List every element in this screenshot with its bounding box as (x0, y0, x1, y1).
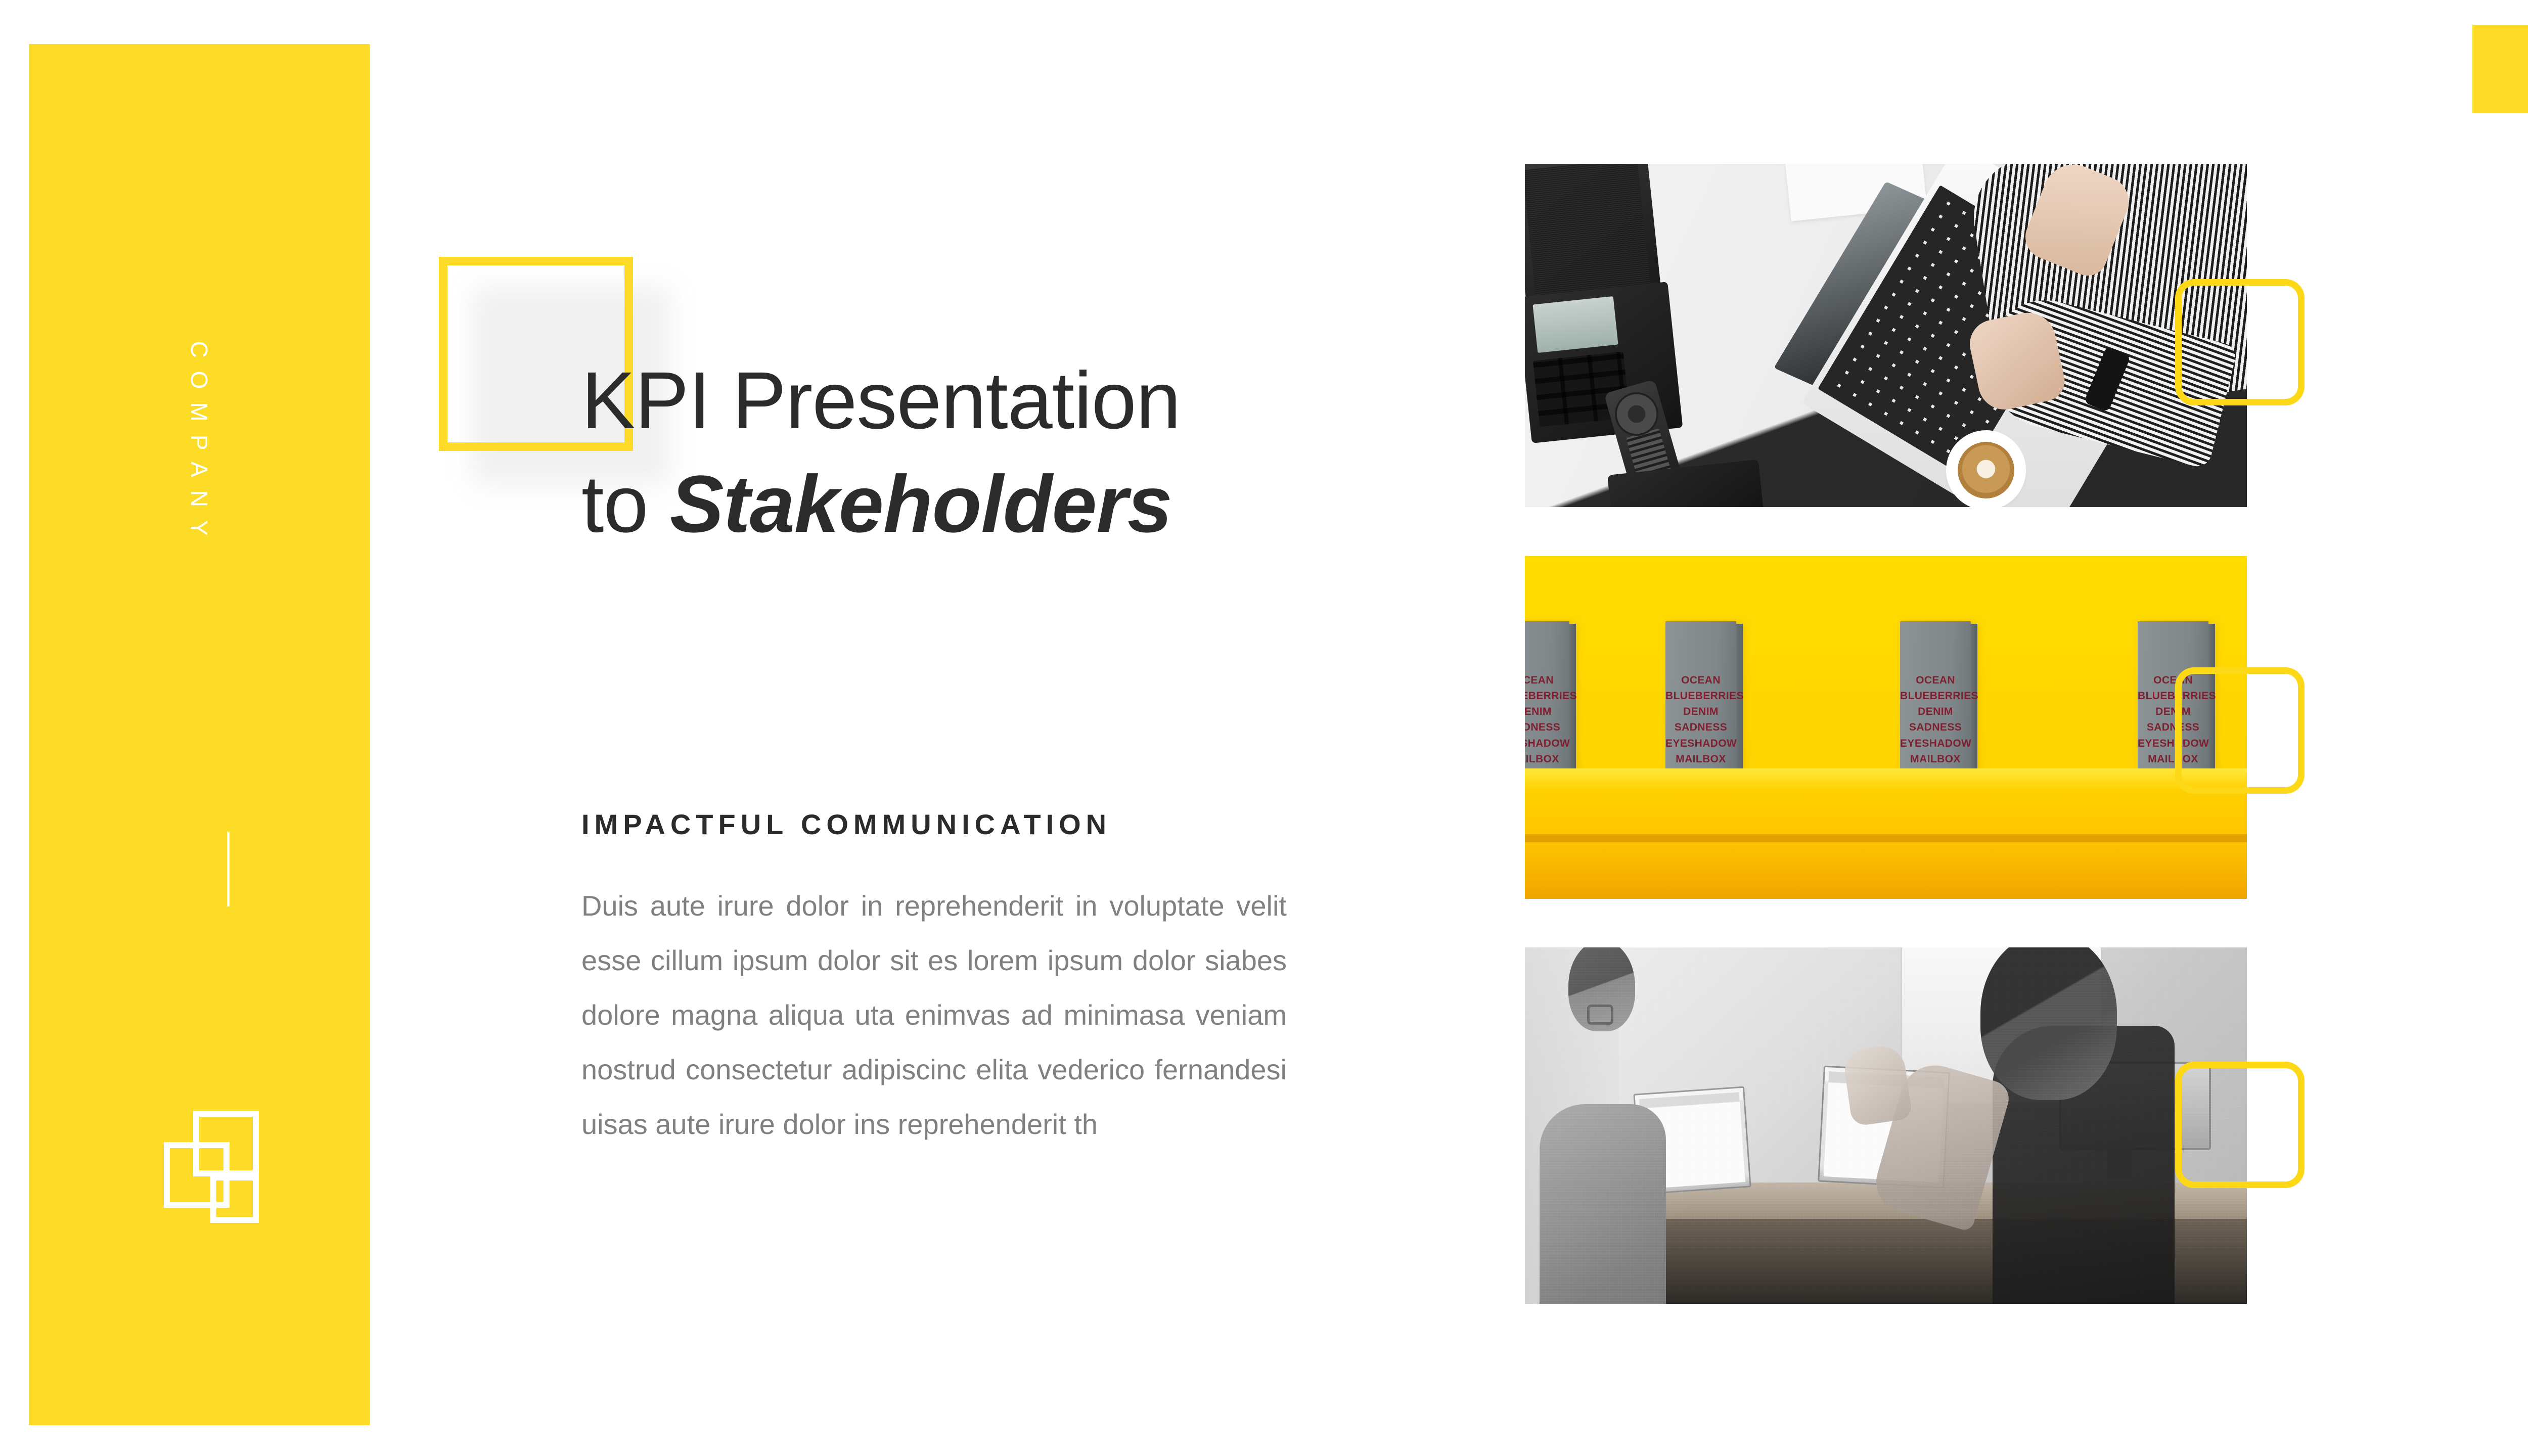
company-vertical-label: COMPANY (188, 341, 211, 549)
booklet: OCEAN BLUEBERRIES DENIM SADNESS EYESHADO… (1665, 621, 1736, 772)
body-paragraph: Duis aute irure dolor in reprehenderit i… (581, 879, 1287, 1152)
title-line-2-prefix: to (581, 459, 670, 549)
booklet: OCEAN BLUEBERRIES DENIM SADNESS EYESHADO… (1900, 621, 1971, 772)
yellow-rounded-accent-1 (2175, 279, 2305, 405)
desk-phone-screen (1532, 296, 1618, 353)
booklet: OCEAN BLUEBERRIES DENIM SADNESS EYESHADO… (1525, 621, 1569, 772)
photo-yellow-shelf-content: OCEAN BLUEBERRIES DENIM SADNESS EYESHADO… (1525, 556, 2247, 899)
coffee-cup-latte-art (1951, 435, 2021, 506)
shelf-shadow-lip (1525, 834, 2247, 842)
shelf-top-surface (1525, 768, 2247, 791)
page-title: KPI Presentation to Stakeholders (581, 349, 1441, 556)
slide-canvas: COMPANY KPI Presentation to Stakeholders… (0, 0, 2528, 1456)
body-paragraph-block: Duis aute irure dolor in reprehenderit i… (581, 879, 1287, 1152)
title-line-2-emphasis: Stakeholders (670, 459, 1172, 549)
photo-desk-laptop-content (1525, 164, 2247, 507)
section-subheading: IMPACTFUL COMMUNICATION (581, 808, 1111, 841)
yellow-rounded-accent-3 (2175, 1062, 2305, 1188)
yellow-rounded-accent-2 (2175, 667, 2305, 794)
sidebar-divider (227, 832, 230, 906)
overlapping-squares-logo-icon (157, 1109, 298, 1250)
title-line-2: to Stakeholders (581, 452, 1441, 556)
left-yellow-sidebar: COMPANY (29, 44, 370, 1425)
yellow-corner-square (2472, 25, 2528, 113)
photo-office-meeting (1525, 947, 2247, 1304)
photo-grain-overlay (1525, 947, 2247, 1304)
photo-office-meeting-content (1525, 947, 2247, 1304)
title-line-1: KPI Presentation (581, 349, 1441, 452)
photo-desk-laptop (1525, 164, 2247, 507)
shelf-front-face (1525, 791, 2247, 899)
photo-yellow-shelf-books: OCEAN BLUEBERRIES DENIM SADNESS EYESHADO… (1525, 556, 2247, 899)
